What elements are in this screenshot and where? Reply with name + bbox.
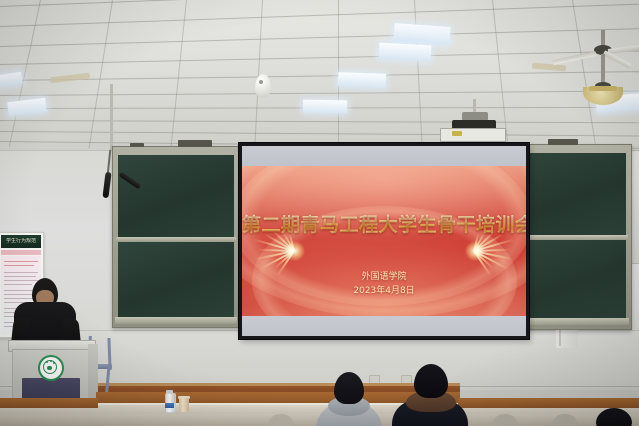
slide-date: 2023年4月8日 [242,286,526,297]
classroom-photo: 第二期青马工程大学生骨干培训会 外国语学院 2023年4月8日 学生行为规范 [0,0,639,426]
ceiling-speaker-dome [255,74,271,98]
ceiling [0,0,639,152]
university-emblem [38,355,64,381]
bench-wood-left [0,398,98,408]
presentation-slide: 第二期青马工程大学生骨干培训会 外国语学院 2023年4月8日 [242,166,526,316]
board-clutter [178,140,212,147]
ceiling-light-panel [393,23,450,45]
ceiling-rod [110,84,113,150]
bench-wood-right [458,398,639,408]
board-clutter [548,139,578,145]
chalkboard-tray [115,317,237,324]
ceiling-light-panel [303,100,347,114]
audience-right-head [414,364,448,398]
emblem-star [50,360,52,362]
screen-surface: 第二期青马工程大学生骨干培训会 外国语学院 2023年4月8日 [242,146,526,336]
board-clutter [130,143,144,147]
chair-leg [107,338,111,370]
emblem-star [46,361,48,363]
poster-header-text: 学生行为规范 [1,238,41,244]
slide-title: 第二期青马工程大学生骨干培训会 [242,214,526,236]
chalkboard-panel-bottom [118,242,234,317]
screen-letterbox-top [242,146,526,166]
projection-screen: 第二期青马工程大学生骨干培训会 外国语学院 2023年4月8日 [238,142,530,340]
stage-edge-trim [96,383,460,386]
screen-letterbox-bottom [242,316,526,336]
poster-header-band: 学生行为规范 [1,235,41,248]
chalkboard-left [112,146,240,328]
ceiling-grid [0,0,639,152]
emblem-star [53,362,55,364]
dome-vent [259,80,263,84]
poster-accent-band [1,250,41,255]
ceiling-light-panel [338,72,386,88]
slide-subtitle: 外国语学院 [242,272,526,283]
fan-lamp-ring [589,86,617,91]
ceiling-light-panel [379,43,432,62]
chalkboard-panel-top [118,155,234,237]
emblem-star [47,366,52,370]
audience-left-head [334,372,364,404]
